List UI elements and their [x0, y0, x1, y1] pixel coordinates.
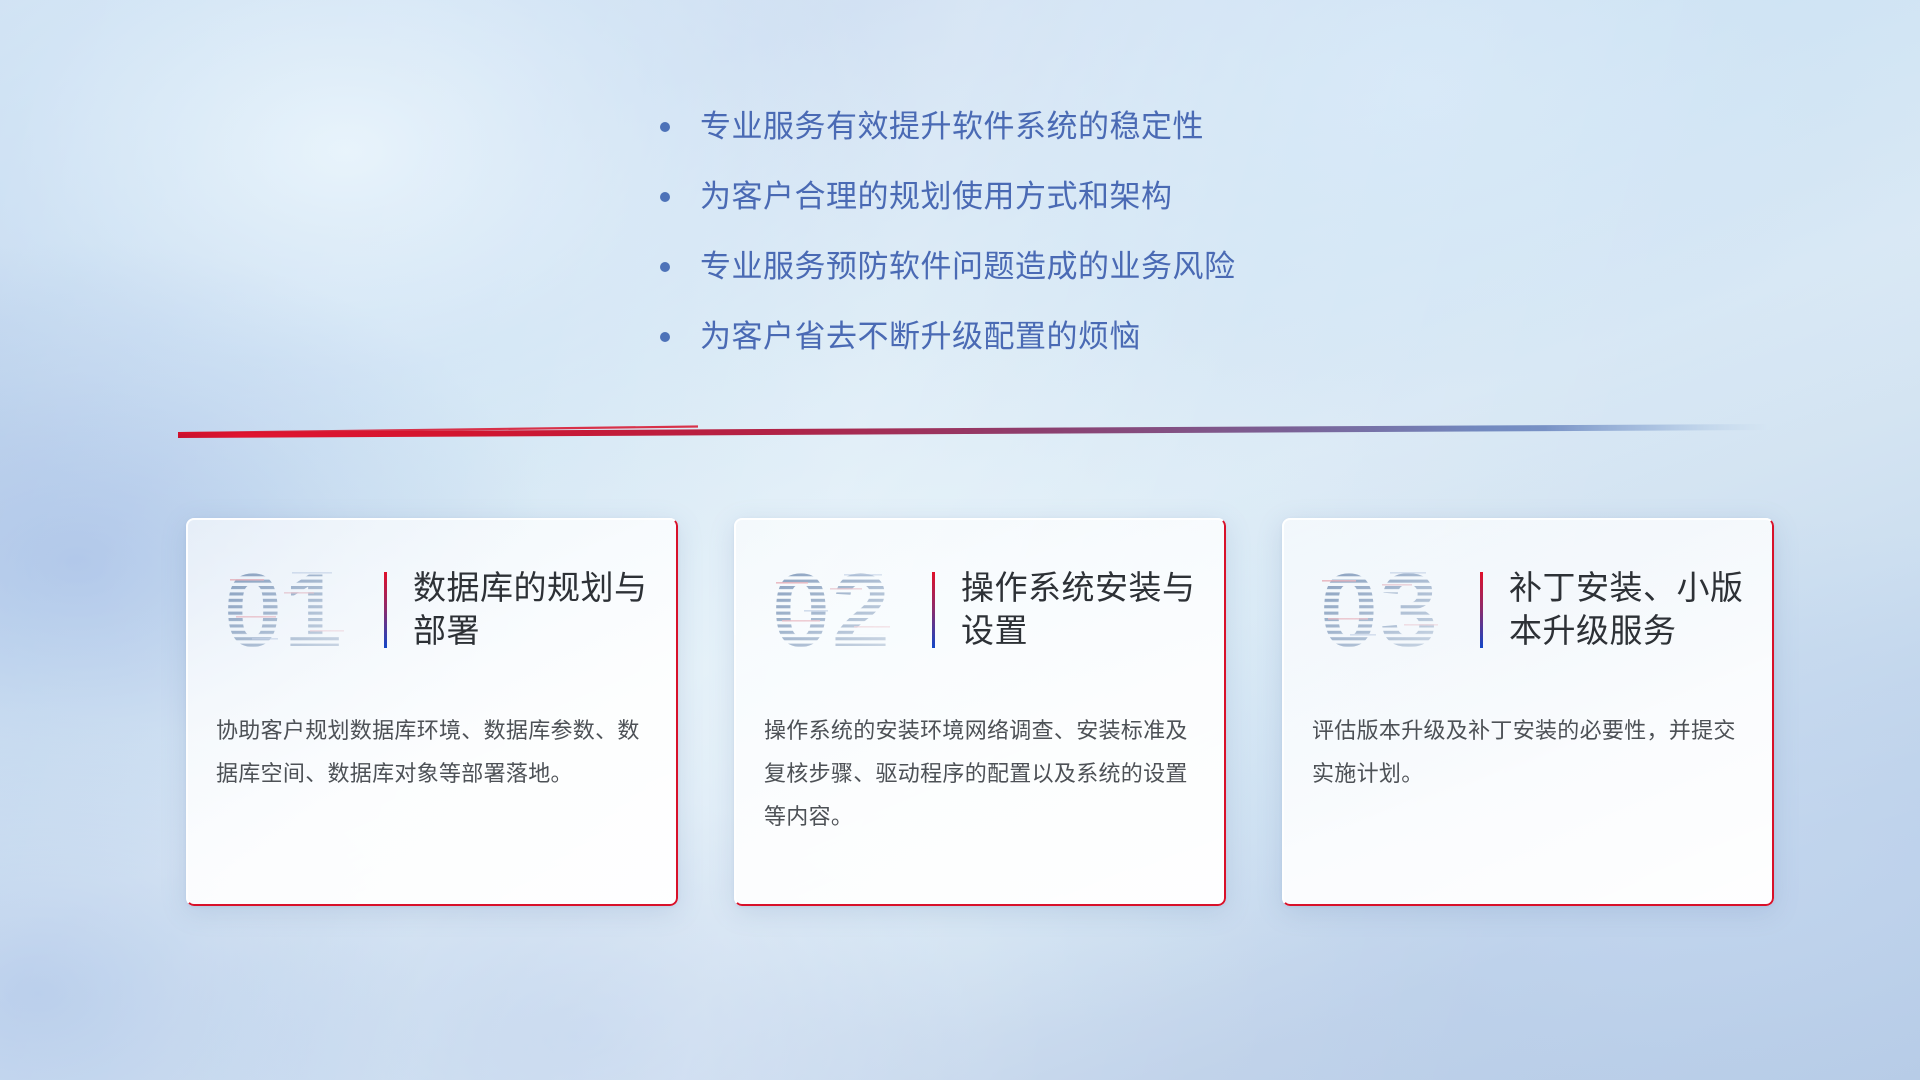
card-title: 操作系统安装与设置: [961, 567, 1196, 653]
card-title: 补丁安装、小版本升级服务: [1509, 567, 1744, 653]
benefits-bullet-list: 专业服务有效提升软件系统的稳定性 为客户合理的规划使用方式和架构 专业服务预防软…: [660, 106, 1480, 385]
svg-text:03: 03: [1320, 554, 1440, 666]
card-accent-bar: [932, 572, 935, 648]
card-body-text: 协助客户规划数据库环境、数据库参数、数据库空间、数据库对象等部署落地。: [216, 710, 648, 796]
service-card-03[interactable]: 03 补丁安装、小版本升级服务 评估版本升级及补丁安装的必要性，并提交实施计划。: [1282, 518, 1774, 906]
card-accent-bar: [1480, 572, 1483, 648]
card-accent-bar: [384, 572, 387, 648]
card-title: 数据库的规划与部署: [413, 567, 648, 653]
svg-text:01: 01: [224, 554, 344, 666]
bullet-dot-icon: [660, 192, 670, 202]
list-item: 专业服务预防软件问题造成的业务风险: [660, 246, 1480, 288]
card-header: 01 数据库的规划与部署: [216, 546, 648, 674]
bullet-dot-icon: [660, 122, 670, 132]
card-number-01-icon: 01: [222, 554, 362, 666]
service-card-02[interactable]: 02 操作系统安装与设置 操作系统的安装环境网络调查、安装标准及复核步骤、驱动程…: [734, 518, 1226, 906]
bullet-text: 为客户合理的规划使用方式和架构: [700, 176, 1173, 218]
service-card-list: 01 数据库的规划与部署 协助客户规划数据库环境、数据库参数、数据库空间、数据库…: [186, 518, 1774, 906]
list-item: 专业服务有效提升软件系统的稳定性: [660, 106, 1480, 148]
bullet-dot-icon: [660, 332, 670, 342]
section-divider: [178, 418, 1768, 440]
card-header: 03 补丁安装、小版本升级服务: [1312, 546, 1744, 674]
service-card-01[interactable]: 01 数据库的规划与部署 协助客户规划数据库环境、数据库参数、数据库空间、数据库…: [186, 518, 678, 906]
bullet-dot-icon: [660, 262, 670, 272]
card-header: 02 操作系统安装与设置: [764, 546, 1196, 674]
bullet-text: 专业服务有效提升软件系统的稳定性: [700, 106, 1204, 148]
list-item: 为客户省去不断升级配置的烦恼: [660, 316, 1480, 358]
card-body-text: 操作系统的安装环境网络调查、安装标准及复核步骤、驱动程序的配置以及系统的设置等内…: [764, 710, 1196, 839]
list-item: 为客户合理的规划使用方式和架构: [660, 176, 1480, 218]
card-number-02-icon: 02: [770, 554, 910, 666]
divider-rule-icon: [178, 418, 1768, 440]
card-number-03-icon: 03: [1318, 554, 1458, 666]
bullet-text: 为客户省去不断升级配置的烦恼: [700, 316, 1141, 358]
svg-text:02: 02: [772, 554, 892, 666]
bullet-text: 专业服务预防软件问题造成的业务风险: [700, 246, 1236, 288]
card-body-text: 评估版本升级及补丁安装的必要性，并提交实施计划。: [1312, 710, 1744, 796]
